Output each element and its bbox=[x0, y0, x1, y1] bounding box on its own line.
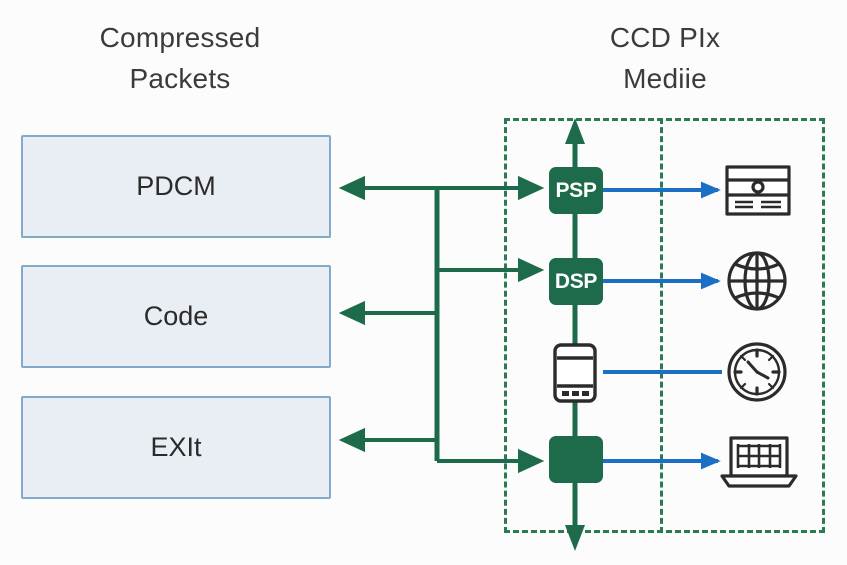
node-psp[interactable]: PSP bbox=[549, 167, 603, 214]
icon-layer bbox=[0, 0, 847, 565]
node-dsp[interactable]: DSP bbox=[549, 258, 603, 305]
card-icon[interactable] bbox=[727, 167, 789, 214]
node-label: DSP bbox=[555, 270, 597, 294]
node-label: PSP bbox=[555, 179, 596, 203]
laptop-icon[interactable] bbox=[722, 438, 796, 486]
node-ssp[interactable] bbox=[549, 436, 603, 483]
diagram-canvas: Compressed Packets CCD PIx Mediie PDCM C… bbox=[0, 0, 847, 565]
clock-icon[interactable] bbox=[729, 344, 785, 400]
phone-icon[interactable] bbox=[555, 345, 595, 401]
globe-icon[interactable] bbox=[729, 253, 785, 309]
